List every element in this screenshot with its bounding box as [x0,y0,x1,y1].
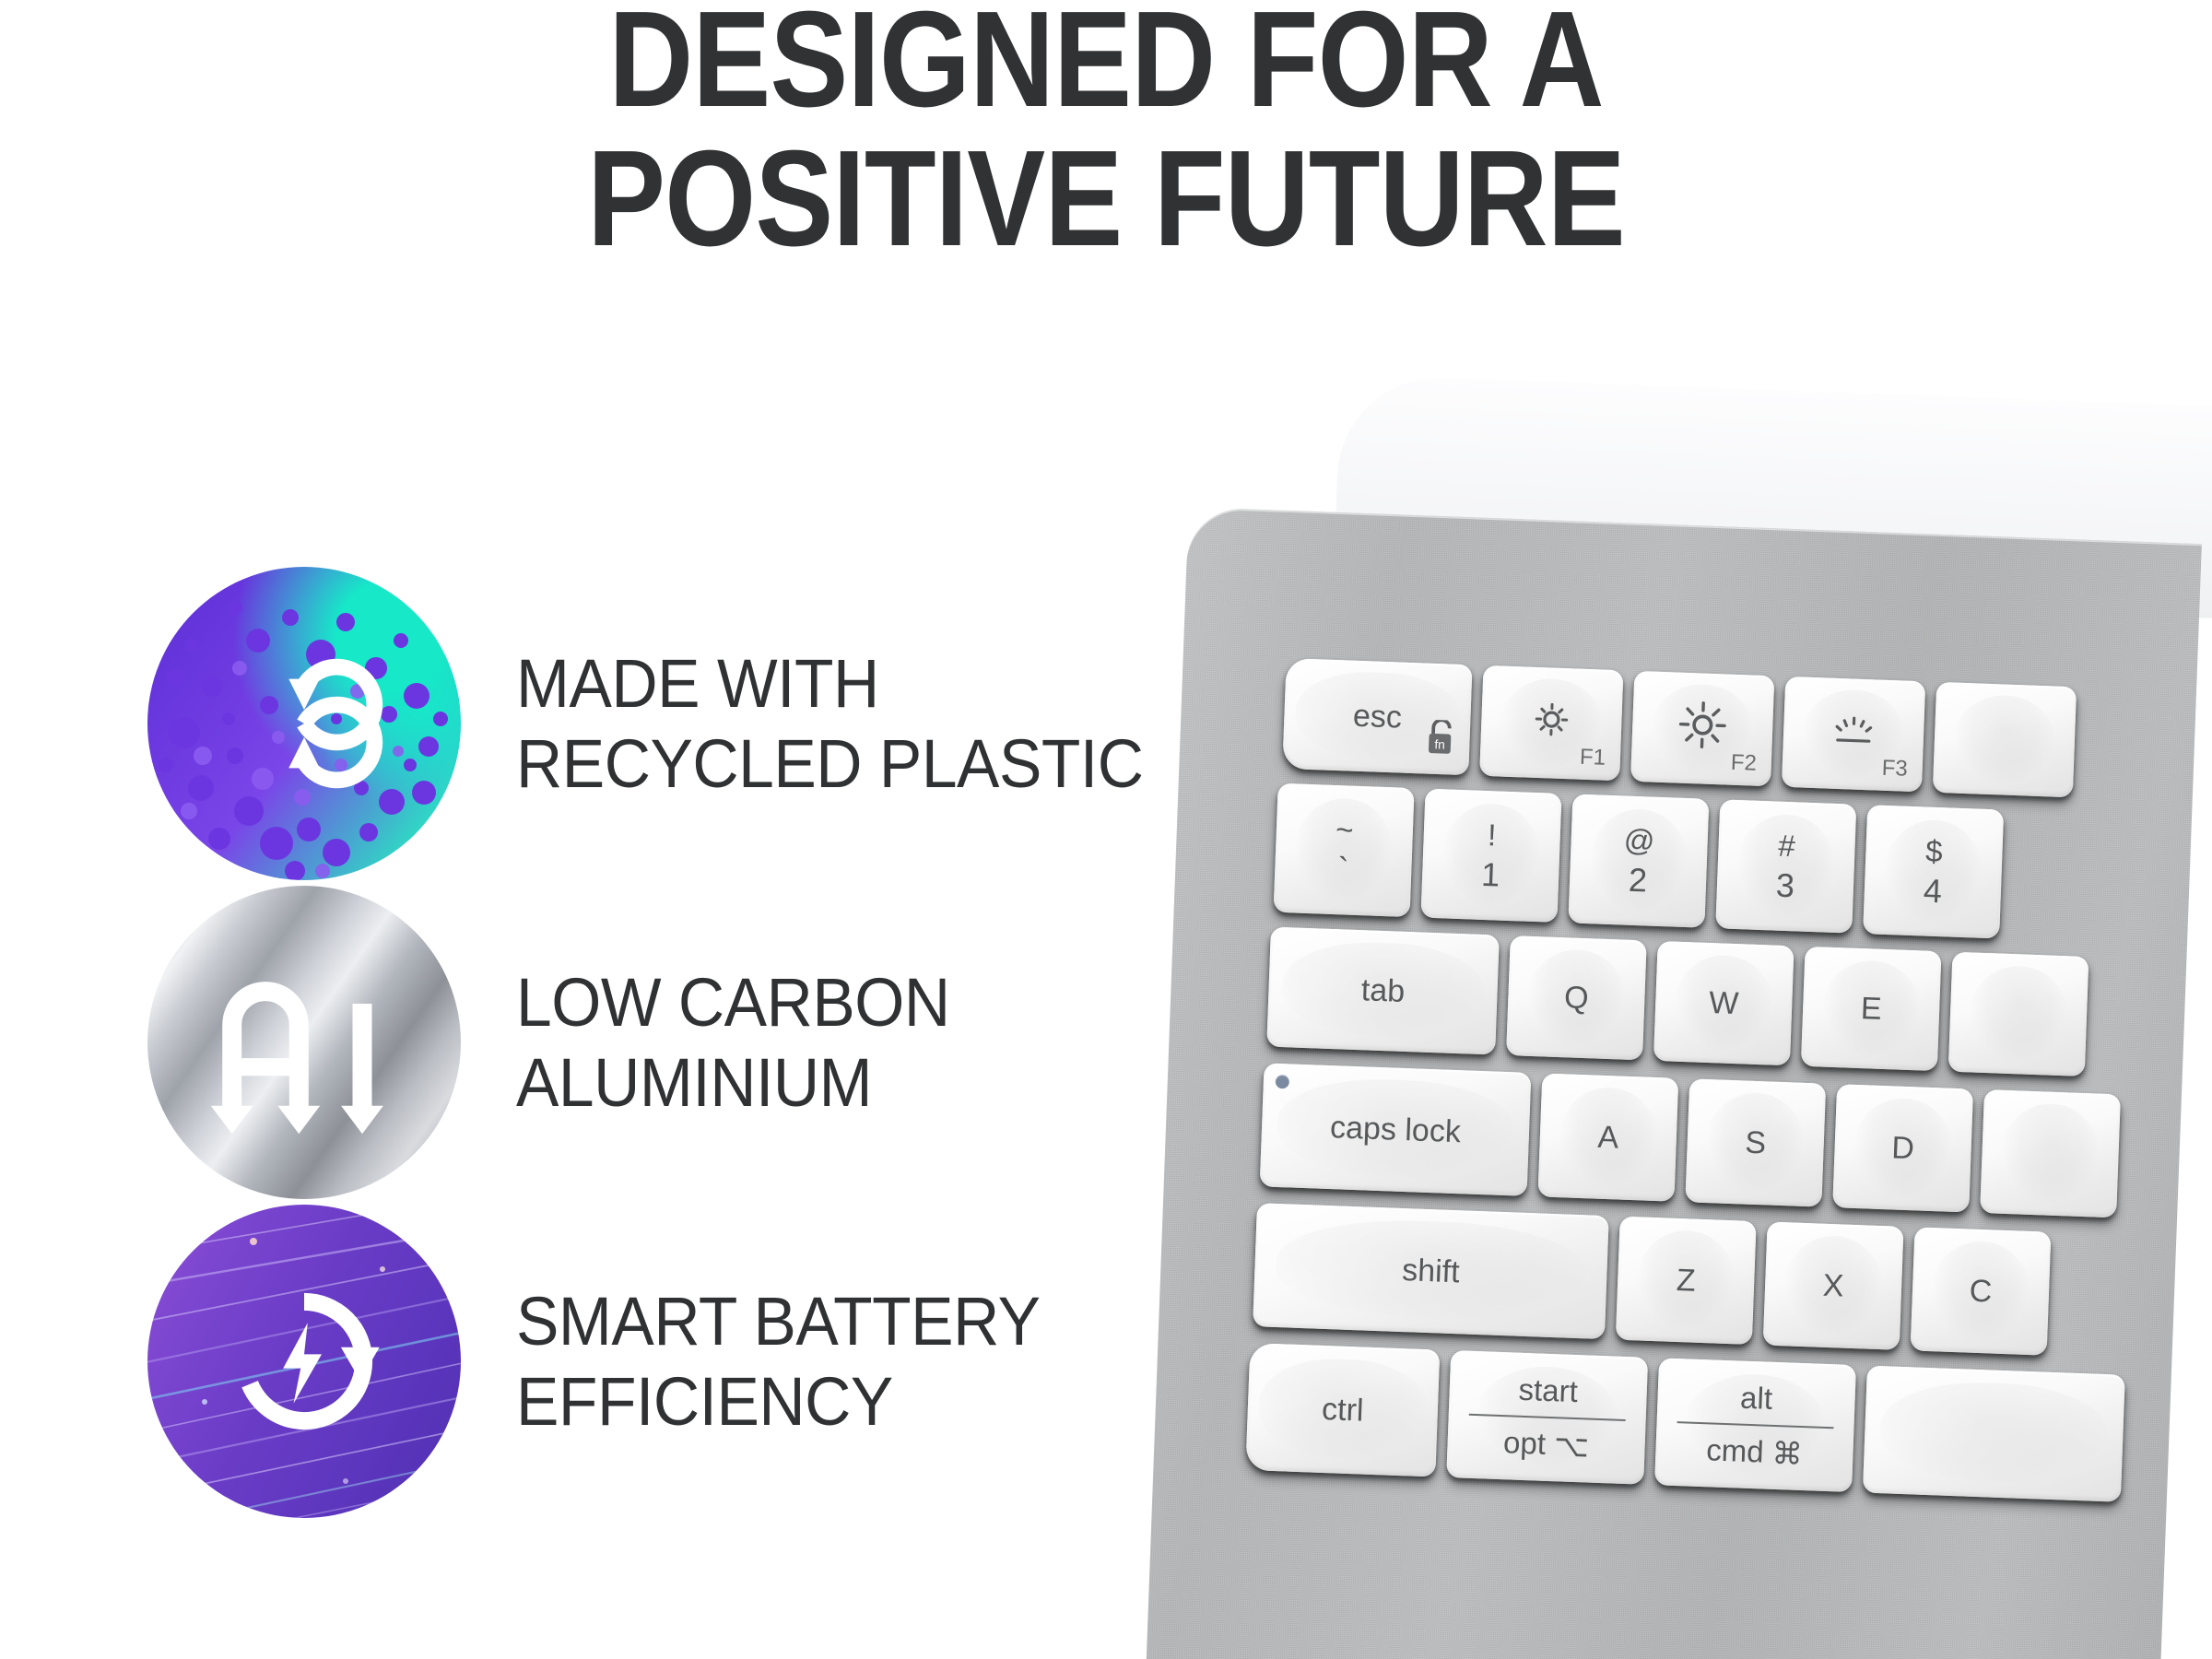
key-r[interactable] [1948,952,2089,1077]
key-alt-cmd[interactable]: alt cmd ⌘ [1654,1358,1856,1492]
key-w[interactable]: W [1653,941,1794,1065]
key-f1-label: F1 [1579,745,1606,771]
key-start-opt[interactable]: start opt ⌥ [1446,1350,1648,1485]
key-spacebar[interactable] [1863,1366,2125,1502]
keyboard-product-image: esc fn [1189,498,2212,1659]
key-f1[interactable]: F1 [1479,665,1623,781]
key-z[interactable]: Z [1616,1217,1757,1345]
recycled-plastic-icon [147,567,461,880]
brightness-down-icon [1527,695,1575,751]
key-esc[interactable]: esc fn [1282,658,1472,775]
feature-label-smart-battery: SMART BATTERY EFFICIENCY [516,1281,1041,1442]
key-f3[interactable]: F3 [1782,677,1925,792]
key-e[interactable]: E [1801,947,1942,1071]
key-2[interactable]: @ 2 [1568,794,1709,927]
feature-label-line-2: RECYCLED PLASTIC [516,724,1144,804]
key-d[interactable]: D [1832,1084,1973,1212]
al-down-arrows-glyph [207,950,401,1135]
option-symbol-icon: ⌥ [1553,1427,1589,1464]
key-f2-label: F2 [1730,750,1757,777]
key-1[interactable]: ! 1 [1420,789,1561,923]
smart-battery-icon [147,1205,461,1518]
key-f[interactable] [1980,1089,2121,1218]
headline-line-1: DESIGNED FOR A [608,0,1603,135]
key-c[interactable]: C [1911,1227,2052,1355]
svg-text:fn: fn [1434,737,1445,751]
key-f3-label: F3 [1881,756,1908,782]
keyboard-row-numbers: ~ ` ! 1 @ 2 [1274,783,2016,939]
key-x[interactable]: X [1763,1222,1904,1350]
feature-label-line-1: MADE WITH [516,643,1144,724]
key-f4[interactable] [1933,682,2077,797]
feature-label-line-1: LOW CARBON [516,962,950,1042]
feature-label-line-2: EFFICIENCY [516,1361,1041,1441]
feature-item-low-carbon-aluminium: LOW CARBON ALUMINIUM [147,883,1235,1202]
page-title: DESIGNED FOR A POSITIVE FUTURE [155,0,2057,269]
feature-label-recycled-plastic: MADE WITH RECYCLED PLASTIC [516,643,1144,805]
feature-label-line-2: ALUMINIUM [516,1042,950,1123]
key-caps-lock[interactable]: caps lock [1260,1063,1532,1196]
feature-item-recycled-plastic: MADE WITH RECYCLED PLASTIC [147,564,1235,883]
circular-arrow-bolt-glyph [217,1274,392,1449]
caps-lock-led [1276,1075,1290,1089]
key-ctrl[interactable]: ctrl [1245,1343,1440,1477]
low-carbon-aluminium-icon [147,886,461,1199]
key-tab[interactable]: tab [1266,927,1500,1055]
key-a[interactable]: A [1537,1073,1678,1201]
key-4[interactable]: $ 4 [1863,805,2004,938]
command-symbol-icon: ⌘ [1771,1434,1803,1471]
feature-item-smart-battery: SMART BATTERY EFFICIENCY [147,1202,1235,1521]
feature-label-line-1: SMART BATTERY [516,1281,1041,1361]
key-shift[interactable]: shift [1253,1203,1609,1339]
circular-arrows-glyph [218,638,390,809]
key-q[interactable]: Q [1506,935,1647,1060]
feature-list: MADE WITH RECYCLED PLASTIC LOW CARBON AL… [147,564,1235,1521]
key-tilde[interactable]: ~ ` [1274,783,1415,917]
key-s[interactable]: S [1685,1078,1826,1206]
backlight-icon [1827,710,1880,759]
brightness-up-icon [1675,697,1730,760]
feature-label-low-carbon-aluminium: LOW CARBON ALUMINIUM [516,962,950,1124]
headline-line-2: POSITIVE FUTURE [155,130,2057,269]
fn-lock-icon: fn [1425,720,1458,766]
key-f2[interactable]: F2 [1630,671,1774,786]
key-3[interactable]: # 3 [1715,799,1856,933]
